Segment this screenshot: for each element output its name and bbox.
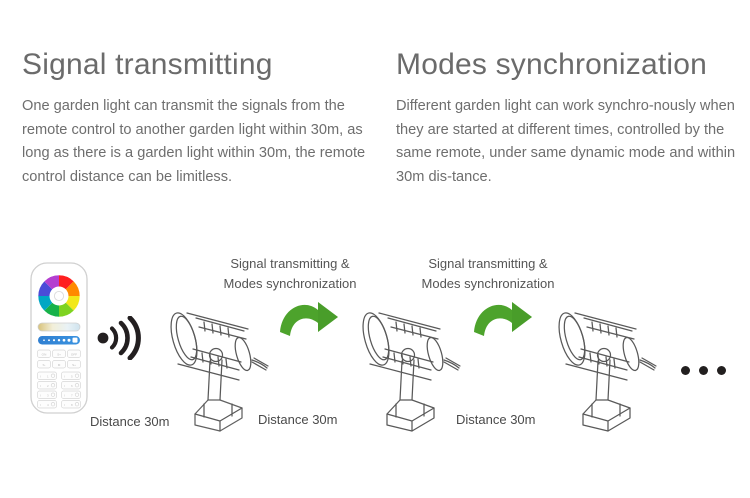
flow-label-2-line2: Modes synchronization — [422, 276, 555, 291]
ellipsis-dots-icon — [681, 366, 726, 375]
svg-text:M: M — [58, 363, 61, 367]
signal-waves-icon — [96, 316, 142, 365]
flow-label-2: Signal transmitting & Modes synchronizat… — [403, 254, 573, 293]
flow-label-2-line1: Signal transmitting & — [428, 256, 547, 271]
ellipsis-dot — [699, 366, 708, 375]
page-title-modes-synchronization: Modes synchronization — [396, 48, 736, 81]
system-diagram: ONS+OFF S-MS+ I1 I5 I2 — [0, 240, 750, 450]
svg-text:OFF: OFF — [71, 352, 77, 356]
body-text-modes-synchronization: Different garden light can work synchro-… — [396, 95, 736, 190]
green-curved-arrow-icon — [472, 296, 534, 349]
section-signal-transmitting: Signal transmitting One garden light can… — [22, 48, 372, 190]
ellipsis-dot — [681, 366, 690, 375]
flow-label-1-line2: Modes synchronization — [224, 276, 357, 291]
svg-text:ON: ON — [42, 352, 47, 356]
ellipsis-dot — [717, 366, 726, 375]
distance-label-1: Distance 30m — [90, 414, 169, 429]
svg-text:S+: S+ — [57, 352, 61, 356]
garden-spotlight-icon — [548, 292, 666, 437]
garden-spotlight-icon — [352, 292, 470, 437]
svg-text:S-: S- — [42, 363, 45, 367]
infographic-page: Signal transmitting One garden light can… — [0, 0, 750, 498]
page-title-signal-transmitting: Signal transmitting — [22, 48, 372, 81]
distance-label-3: Distance 30m — [456, 412, 535, 427]
body-text-signal-transmitting: One garden light can transmit the signal… — [22, 95, 372, 190]
flow-label-1: Signal transmitting & Modes synchronizat… — [205, 254, 375, 293]
flow-label-1-line1: Signal transmitting & — [230, 256, 349, 271]
rf-remote-control-icon: ONS+OFF S-MS+ I1 I5 I2 — [30, 262, 88, 419]
svg-text:S+: S+ — [72, 363, 76, 367]
section-modes-synchronization: Modes synchronization Different garden l… — [396, 48, 736, 190]
green-curved-arrow-icon — [278, 296, 340, 349]
distance-label-2: Distance 30m — [258, 412, 337, 427]
